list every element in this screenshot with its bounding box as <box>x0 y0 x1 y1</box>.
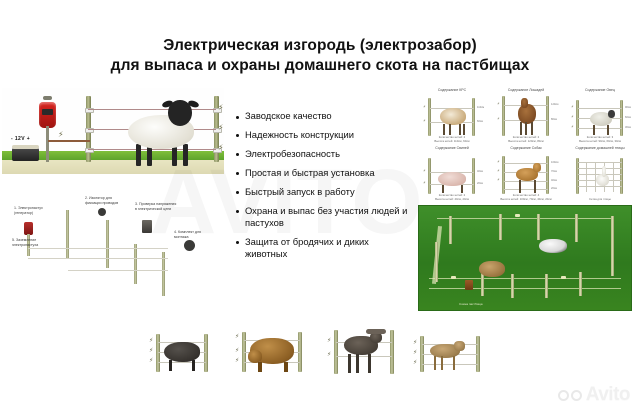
animal-sheep-head <box>608 110 615 118</box>
animal-leg <box>434 356 436 370</box>
voltage-flash-icon: ⚡ <box>235 348 239 355</box>
bullet-dot-icon <box>236 241 239 244</box>
fence-post <box>620 158 623 194</box>
voltage-flash-icon: ⚡ <box>218 123 224 132</box>
grid-subcaption: Количество нитей: 2 Высота нитей: 110см,… <box>416 136 488 143</box>
animal-leg <box>607 125 609 135</box>
animal-goose-neck <box>602 166 606 177</box>
grid-cell-pigs: Содержание Свиней ⚡ ⚡ 40см 20см Количест… <box>416 146 488 202</box>
schematic-step-4: 4. Комплект для монтажа <box>174 230 216 239</box>
schematic-post <box>106 220 109 268</box>
voltage-flash-icon: ⚡ <box>413 350 417 357</box>
animal-wolf-head <box>454 341 465 351</box>
fence-post <box>472 158 475 194</box>
animal-leg <box>449 124 451 135</box>
voltage-flash-icon: ⚡ <box>571 114 574 119</box>
paddock-caption: Схема пастбища <box>459 302 483 306</box>
paddock-layout-illustration: Схема пастбища <box>418 205 632 311</box>
animal-leg <box>348 354 351 373</box>
schematic-insulator-icon <box>98 208 106 216</box>
schematic-post <box>66 210 69 258</box>
animal-leg <box>368 354 371 373</box>
grid-caption: Содержание домашней птицы <box>564 146 636 150</box>
schematic-post <box>134 244 137 284</box>
animal-leg <box>520 122 522 135</box>
grid-cell-sheep: Содержание Овец ⚡ ⚡ ⚡ 90см 60см 30см Кол… <box>564 88 636 144</box>
fence-post <box>576 158 579 194</box>
fence-wire <box>158 362 206 363</box>
grid-caption: Содержание Овец <box>564 88 636 92</box>
bullet-text: Охрана и выпас без участия людей и пасту… <box>245 205 412 230</box>
fence-post <box>334 330 338 374</box>
wire-height-label: 80см <box>551 118 557 121</box>
wire-height-label: 120см <box>551 103 558 106</box>
bullet-text: Защита от бродячих и диких животных <box>245 236 412 261</box>
paddock-post <box>449 216 452 244</box>
schematic-step-1: 1. Электропастух (генератор) <box>14 206 60 215</box>
wild-cell-moose: ⚡ ⚡ <box>318 330 398 378</box>
fence-post <box>156 334 160 372</box>
animal-cow <box>440 108 466 125</box>
installation-schematic: 1. Электропастух (генератор) 2. Изолятор… <box>2 192 228 322</box>
sheep-leg <box>183 144 188 166</box>
fence-post <box>204 334 208 372</box>
bullet-dot-icon <box>236 191 239 194</box>
paddock-wire <box>429 288 621 289</box>
mesh-wire <box>578 168 622 169</box>
grid-caption: Содержание Свиней <box>416 146 488 150</box>
animal-leg <box>459 124 461 135</box>
grid-cell-horses: Содержание Лошадей ⚡ ⚡ 120см 80см Количе… <box>490 88 562 144</box>
wire-height-label: 40см <box>477 170 483 173</box>
animal-leg <box>534 180 536 193</box>
paddock-post <box>511 274 514 298</box>
wild-cell-boar: ⚡ ⚡ ⚡ <box>140 330 212 378</box>
energizer-mast <box>46 126 49 162</box>
voltage-flash-icon: ⚡ <box>423 180 426 185</box>
fence-post <box>546 96 549 136</box>
voltage-flash-icon: ⚡ <box>497 159 500 164</box>
wild-cell-wolf: ⚡ ⚡ ⚡ <box>408 334 484 378</box>
paddock-post <box>545 274 548 298</box>
animal-leg <box>443 124 445 135</box>
mesh-wire-v <box>586 162 587 192</box>
bullet-text: Надежность конструкции <box>245 129 354 141</box>
voltage-flash-icon: ⚡ <box>497 168 500 173</box>
animal-horse-head <box>521 98 528 108</box>
grid-subcaption: Количество нитей: 3 Высота нитей: 90см, … <box>564 136 636 143</box>
bullet-text: Быстрый запуск в работу <box>245 186 355 198</box>
grid-caption: Содержание Собак <box>490 146 562 150</box>
mesh-wire-v <box>613 162 614 192</box>
voltage-flash-icon: ⚡ <box>149 358 153 365</box>
mesh-wire <box>578 162 622 163</box>
voltage-flash-icon: ⚡ <box>423 118 426 123</box>
paddock-wire <box>429 278 621 279</box>
paddock-energizer-box <box>465 280 473 290</box>
animal-leg <box>192 360 195 371</box>
battery-label: - 12V + <box>11 136 30 142</box>
animal-cow-holstein <box>539 239 567 253</box>
voltage-flash-icon: ⚡ <box>571 124 574 129</box>
schematic-step-3: 3. Проверка напряжения в электрической ц… <box>135 202 179 211</box>
bullet-text: Простая и быстрая установка <box>245 167 375 179</box>
lead-wire <box>48 140 90 142</box>
list-item: Защита от бродячих и диких животных <box>232 236 412 261</box>
paddock-tag <box>561 276 566 279</box>
voltage-flash-icon: ⚡ <box>571 104 574 109</box>
animal-leg <box>593 125 595 135</box>
voltage-flash-icon: ⚡ <box>423 104 426 109</box>
animal-moose-antler <box>366 329 386 334</box>
livestock-diagram-grid: Содержание КРС ⚡ ⚡ 110см 60см Количество… <box>414 88 638 206</box>
feature-bullet-list: Заводское качество Надежность конструкци… <box>232 110 412 267</box>
wire-height-label: 20см <box>477 182 483 185</box>
schematic-wire <box>28 248 168 249</box>
animal-leg <box>453 356 455 370</box>
animal-leg <box>519 180 521 193</box>
paddock-post <box>435 242 438 282</box>
voltage-flash-icon: ⚡ <box>497 116 500 121</box>
list-item: Заводское качество <box>232 110 412 122</box>
schematic-wire <box>68 270 168 271</box>
fence-post <box>428 158 431 194</box>
main-fence-photo: - 12V + ⚡ ⚡ ⚡ ⚡ <box>2 88 224 174</box>
wire-height-label: 100см <box>551 161 558 164</box>
animal-leg <box>442 185 444 193</box>
paddock-post <box>481 272 484 296</box>
schematic-wire <box>28 258 168 259</box>
animal-leg <box>258 362 262 372</box>
voltage-flash-icon: ⚡ <box>413 360 417 367</box>
fence-wire <box>336 356 392 357</box>
bullet-dot-icon <box>236 134 239 137</box>
animal-leg <box>356 354 359 373</box>
schematic-kit-icon <box>184 240 195 251</box>
grid-caption: Содержание Лошадей <box>490 88 562 92</box>
wire-height-label: 70см <box>551 170 557 173</box>
animal-leg <box>169 360 172 371</box>
grid-subcaption: Сетка для птицы <box>564 198 636 201</box>
voltage-flash-icon: ⚡ <box>497 101 500 106</box>
sheep-head <box>168 100 192 126</box>
animal-leg <box>441 356 443 370</box>
list-item: Быстрый запуск в работу <box>232 186 412 198</box>
fence-post <box>472 98 475 136</box>
photo-ground <box>2 160 224 174</box>
fence-wire <box>504 163 548 164</box>
energizer-mast-cap <box>43 96 52 100</box>
wire-height-label: 110см <box>477 106 484 109</box>
paddock-post <box>499 214 502 240</box>
voltage-flash-icon: ⚡ <box>423 168 426 173</box>
voltage-flash-icon: ⚡ <box>149 338 153 345</box>
energizer-unit <box>39 102 56 128</box>
voltage-flash-icon: ⚡ <box>497 177 500 182</box>
voltage-flash-icon: ⚡ <box>327 338 331 345</box>
animal-leg <box>525 122 527 135</box>
wire-height-label: 60см <box>625 116 631 119</box>
wire-height-label: 40см <box>551 179 557 182</box>
bullet-dot-icon <box>236 116 239 119</box>
bullet-text: Заводское качество <box>245 110 332 122</box>
animal-dog-head <box>533 163 541 172</box>
grid-caption: Содержание КРС <box>416 88 488 92</box>
grid-subcaption: Количество нитей: 2 Высота нитей: 40см, … <box>416 194 488 201</box>
wild-animal-strip: ⚡ ⚡ ⚡ ⚡ ⚡ ⚡ ⚡ ⚡ <box>140 330 484 392</box>
fence-wire <box>504 181 548 182</box>
bullet-dot-icon <box>236 172 239 175</box>
avito-brand-text: Avito <box>586 384 630 406</box>
voltage-flash-icon: ⚡ <box>218 143 224 152</box>
fence-wire <box>422 364 478 365</box>
avito-logo-icon <box>558 390 582 401</box>
paddock-post <box>575 214 578 242</box>
grid-subcaption: Количество нитей: 2 Высота нитей: 120см,… <box>490 136 562 143</box>
fence-wire <box>578 108 622 109</box>
voltage-flash-icon: ⚡ <box>235 334 239 341</box>
mesh-wire <box>578 186 622 187</box>
page-title: Электрическая изгородь (электрозабор) дл… <box>0 36 640 76</box>
animal-cow-brown <box>479 261 505 277</box>
wild-cell-bear: ⚡ ⚡ ⚡ <box>226 330 306 378</box>
avito-watermark: Avito <box>558 384 630 406</box>
bullet-dot-icon <box>236 210 239 213</box>
list-item: Надежность конструкции <box>232 129 412 141</box>
animal-leg <box>463 124 465 135</box>
grid-cell-poultry: Содержание домашней птицы Сетка для птиц… <box>564 146 636 202</box>
schematic-step-2: 2. Изолятор для фиксации проводов <box>85 196 129 205</box>
paddock-wire <box>437 218 613 219</box>
schematic-tester-icon <box>142 220 152 233</box>
fence-post <box>390 330 394 374</box>
paddock-post <box>579 272 582 296</box>
paddock-post <box>611 216 614 276</box>
bullet-text: Электробезопасность <box>245 148 340 160</box>
title-line-1: Электрическая изгородь (электрозабор) <box>163 37 477 54</box>
fence-wire <box>578 128 622 129</box>
voltage-flash-icon: ⚡ <box>327 352 331 359</box>
animal-pig <box>438 172 466 186</box>
paddock-tag <box>451 276 456 279</box>
wire-height-label: 60см <box>477 120 483 123</box>
animal-boar <box>164 342 200 362</box>
paddock-tag <box>515 214 520 217</box>
wire-height-label: 20см <box>551 187 557 190</box>
voltage-flash-icon: ⚡ <box>413 340 417 347</box>
animal-leg <box>461 185 463 193</box>
wire-height-label: 30см <box>625 126 631 129</box>
battery-12v <box>12 148 39 161</box>
bullet-dot-icon <box>236 153 239 156</box>
grid-cell-dogs: Содержание Собак ⚡ ⚡ ⚡ 100см 70см 40см 2… <box>490 146 562 202</box>
animal-leg <box>284 362 288 372</box>
voltage-flash-icon: ⚡ <box>149 348 153 355</box>
voltage-flash-icon: ⚡ <box>218 103 224 112</box>
list-item: Охрана и выпас без участия людей и пасту… <box>232 205 412 230</box>
list-item: Простая и быстрая установка <box>232 167 412 179</box>
fence-wire <box>88 109 216 110</box>
grid-cell-cattle: Содержание КРС ⚡ ⚡ 110см 60см Количество… <box>416 88 488 144</box>
wire-height-label: 90см <box>625 106 631 109</box>
grid-subcaption: Количество нитей: 4 Высота нитей: 100см,… <box>490 194 562 201</box>
sheep-leg <box>136 144 141 166</box>
fence-post <box>502 96 505 136</box>
list-item: Электробезопасность <box>232 148 412 160</box>
fence-wire <box>88 149 216 150</box>
schematic-step-5: 5. Заземление электропастуха <box>12 238 54 247</box>
fence-wire <box>504 189 548 190</box>
title-line-2: для выпаса и охраны домашнего скота на п… <box>0 56 640 76</box>
animal-leg <box>531 122 533 135</box>
voltage-flash-icon: ⚡ <box>235 358 239 365</box>
voltage-flash-icon: ⚡ <box>58 130 64 139</box>
fence-post <box>428 98 431 136</box>
paddock-post <box>537 214 540 240</box>
